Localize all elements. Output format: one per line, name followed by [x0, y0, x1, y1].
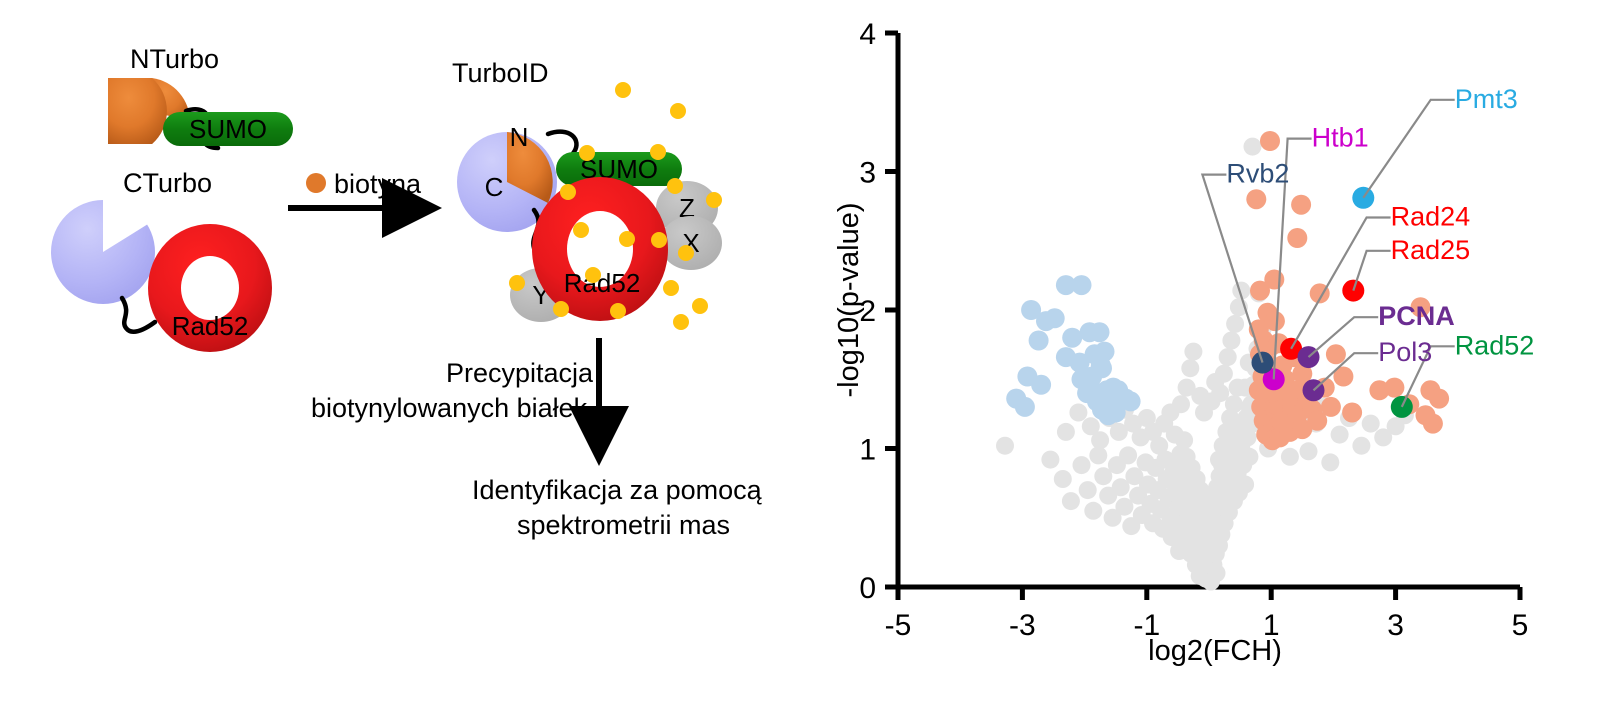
- gene-label-pmt3: Pmt3: [1455, 84, 1518, 114]
- data-point: [1195, 404, 1213, 422]
- gene-label-rvb2: Rvb2: [1226, 159, 1289, 189]
- data-point: [1281, 448, 1299, 466]
- gene-label-rad24: Rad24: [1391, 202, 1471, 232]
- data-point: [1429, 389, 1449, 409]
- x-tick-label: 3: [1387, 609, 1404, 642]
- gene-label-rad25: Rad25: [1391, 235, 1471, 265]
- x-tick-label: 5: [1512, 609, 1529, 642]
- data-point: [1321, 453, 1339, 471]
- biotin-dot-icon: [306, 173, 326, 193]
- data-point: [1236, 476, 1254, 494]
- data-point: [1287, 228, 1307, 248]
- rad52-label-left: Rad52: [172, 311, 249, 341]
- data-point: [1184, 343, 1202, 361]
- y-tick-label: 1: [859, 434, 876, 467]
- rad52-label-complex: Rad52: [564, 268, 641, 298]
- data-point: [1342, 403, 1362, 423]
- data-point: [1054, 470, 1072, 488]
- x-tick-label: -3: [1009, 609, 1036, 642]
- data-point: [1240, 448, 1258, 466]
- series-depleted-left: [1006, 275, 1140, 425]
- nturbo-label: NTurbo: [130, 44, 219, 74]
- data-point: [1072, 275, 1092, 295]
- x-axis-title: log2(FCH): [1148, 635, 1282, 667]
- series-not-significant: [996, 138, 1414, 591]
- data-point: [1222, 332, 1240, 350]
- identification-line2: spektrometrii mas: [517, 510, 730, 540]
- cturbo-label: CTurbo: [123, 168, 212, 198]
- data-point: [1031, 375, 1051, 395]
- data-point: [1206, 373, 1224, 391]
- data-point: [1172, 395, 1190, 413]
- data-point: [1062, 492, 1080, 510]
- data-point: [1260, 131, 1280, 151]
- schematic-diagram-panel: NTurbo SUMO CTurbo: [0, 0, 830, 711]
- data-point: [1300, 442, 1318, 460]
- data-point: [1210, 451, 1228, 469]
- data-point: [1244, 138, 1262, 156]
- rad52-ring-complex: [532, 177, 668, 321]
- data-point: [1291, 195, 1311, 215]
- data-point: [1423, 414, 1443, 434]
- precipitation-line2: biotynylowanych białek: [311, 393, 588, 423]
- data-point: [1226, 315, 1244, 333]
- y-tick-label: 4: [859, 18, 876, 51]
- volcano-plot-svg: 01234-5-3-1135 Pmt3Htb1Rvb2Rad24Rad25PCN…: [830, 0, 1600, 711]
- data-point: [1246, 189, 1266, 209]
- data-point: [1208, 564, 1226, 582]
- y-tick-label: 3: [859, 157, 876, 190]
- gene-label-htb1: Htb1: [1312, 123, 1369, 153]
- volcano-plot-panel: 01234-5-3-1135 Pmt3Htb1Rvb2Rad24Rad25PCN…: [830, 0, 1600, 711]
- data-point: [1073, 456, 1091, 474]
- data-point: [1235, 423, 1253, 441]
- data-point: [1219, 348, 1237, 366]
- data-point: [1250, 281, 1270, 301]
- data-point: [1171, 445, 1189, 463]
- data-point: [1326, 344, 1346, 364]
- turboid-complex-group: TurboID N C SUMO Z X Y: [452, 58, 722, 330]
- data-point: [1045, 308, 1065, 328]
- data-point: [1384, 378, 1404, 398]
- data-point: [1069, 404, 1087, 422]
- precipitation-line1: Precypitacja: [446, 358, 594, 388]
- biotin-legend: biotyna: [306, 169, 422, 199]
- gene-label-pcna: PCNA: [1378, 301, 1455, 331]
- nturbo-wedge-body: [108, 78, 167, 144]
- figure-root: NTurbo SUMO CTurbo: [0, 0, 1600, 711]
- gene-label-pol3: Pol3: [1378, 337, 1432, 367]
- c-fragment-label: C: [485, 172, 504, 202]
- data-point: [1041, 451, 1059, 469]
- data-point: [1089, 446, 1107, 464]
- nturbo-group: NTurbo SUMO: [108, 44, 293, 148]
- data-point: [1307, 411, 1327, 431]
- y-tick-label: 0: [859, 572, 876, 605]
- n-fragment-label: N: [510, 122, 529, 152]
- data-point: [1015, 397, 1035, 417]
- data-point: [1082, 417, 1100, 435]
- y-axis-title: -log10(p-value): [833, 202, 865, 397]
- gene-label-rad52: Rad52: [1455, 330, 1535, 360]
- data-point: [1229, 379, 1247, 397]
- cturbo-group: CTurbo Rad52: [51, 168, 272, 352]
- identification-line1: Identyfikacja za pomocą: [472, 475, 763, 505]
- data-point: [1331, 426, 1349, 444]
- turboid-label: TurboID: [452, 58, 549, 88]
- data-point: [1084, 502, 1102, 520]
- data-point: [1119, 446, 1137, 464]
- leader-line-pmt3: [1363, 100, 1454, 198]
- data-point: [1362, 415, 1380, 433]
- data-point: [1106, 403, 1126, 423]
- data-point: [1181, 359, 1199, 377]
- diagram-svg: NTurbo SUMO CTurbo: [0, 0, 830, 711]
- data-point: [1057, 423, 1075, 441]
- data-point: [1062, 328, 1082, 348]
- data-point: [996, 437, 1014, 455]
- data-point: [1090, 322, 1110, 342]
- sumo-label-top: SUMO: [189, 114, 267, 144]
- data-point: [1029, 331, 1049, 351]
- biotin-label: biotyna: [334, 169, 422, 199]
- data-point: [1352, 437, 1370, 455]
- x-tick-label: -5: [885, 609, 912, 642]
- data-point: [1079, 481, 1097, 499]
- data-point: [1191, 387, 1209, 405]
